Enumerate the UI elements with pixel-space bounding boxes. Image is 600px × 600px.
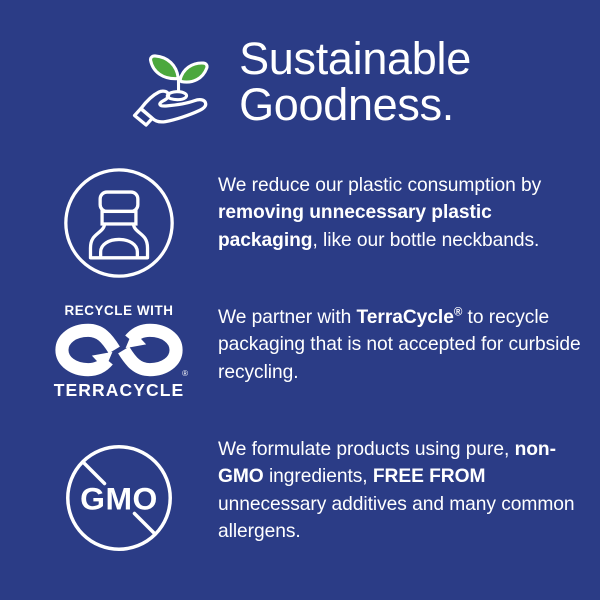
feature-copy: We partner with TerraCycle® to recycle p… bbox=[218, 304, 586, 386]
feature-text-plastic-reduction: We reduce our plastic consumption by rem… bbox=[194, 160, 586, 254]
feature-text-terracycle: We partner with TerraCycle® to recycle p… bbox=[194, 290, 586, 386]
feature-row-terracycle: RECYCLE WITH ® TERRACYCLE bbox=[0, 290, 600, 430]
terracycle-top-label: RECYCLE WITH bbox=[64, 304, 173, 317]
feature-copy: We formulate products using pure, non-GM… bbox=[218, 436, 586, 545]
no-gmo-icon-label: GMO bbox=[80, 481, 158, 517]
feature-row-non-gmo: GMO We formulate products using pure, no… bbox=[0, 430, 600, 565]
feature-list: We reduce our plastic consumption by rem… bbox=[0, 160, 600, 565]
page-title: Sustainable Goodness. bbox=[239, 36, 471, 128]
feature-text-non-gmo: We formulate products using pure, non-GM… bbox=[194, 430, 586, 545]
no-gmo-icon: GMO bbox=[44, 430, 194, 558]
feature-copy: We reduce our plastic consumption by rem… bbox=[218, 172, 586, 254]
page-title-line-1: Sustainable bbox=[239, 36, 471, 82]
terracycle-bottom-label: TERRACYCLE bbox=[54, 382, 185, 400]
page-title-line-2: Goodness. bbox=[239, 82, 471, 128]
sustainability-infographic: Sustainable Goodness. bbox=[0, 0, 600, 600]
infinity-recycle-arrows-icon: ® bbox=[48, 321, 190, 379]
hand-holding-sprout-icon bbox=[129, 35, 225, 131]
page-header: Sustainable Goodness. bbox=[0, 26, 600, 138]
terracycle-logo: RECYCLE WITH ® TERRACYCLE bbox=[44, 290, 194, 414]
feature-row-plastic-reduction: We reduce our plastic consumption by rem… bbox=[0, 160, 600, 290]
registered-trademark-icon: ® bbox=[182, 370, 188, 378]
plastic-bottle-neckband-icon bbox=[44, 160, 194, 282]
